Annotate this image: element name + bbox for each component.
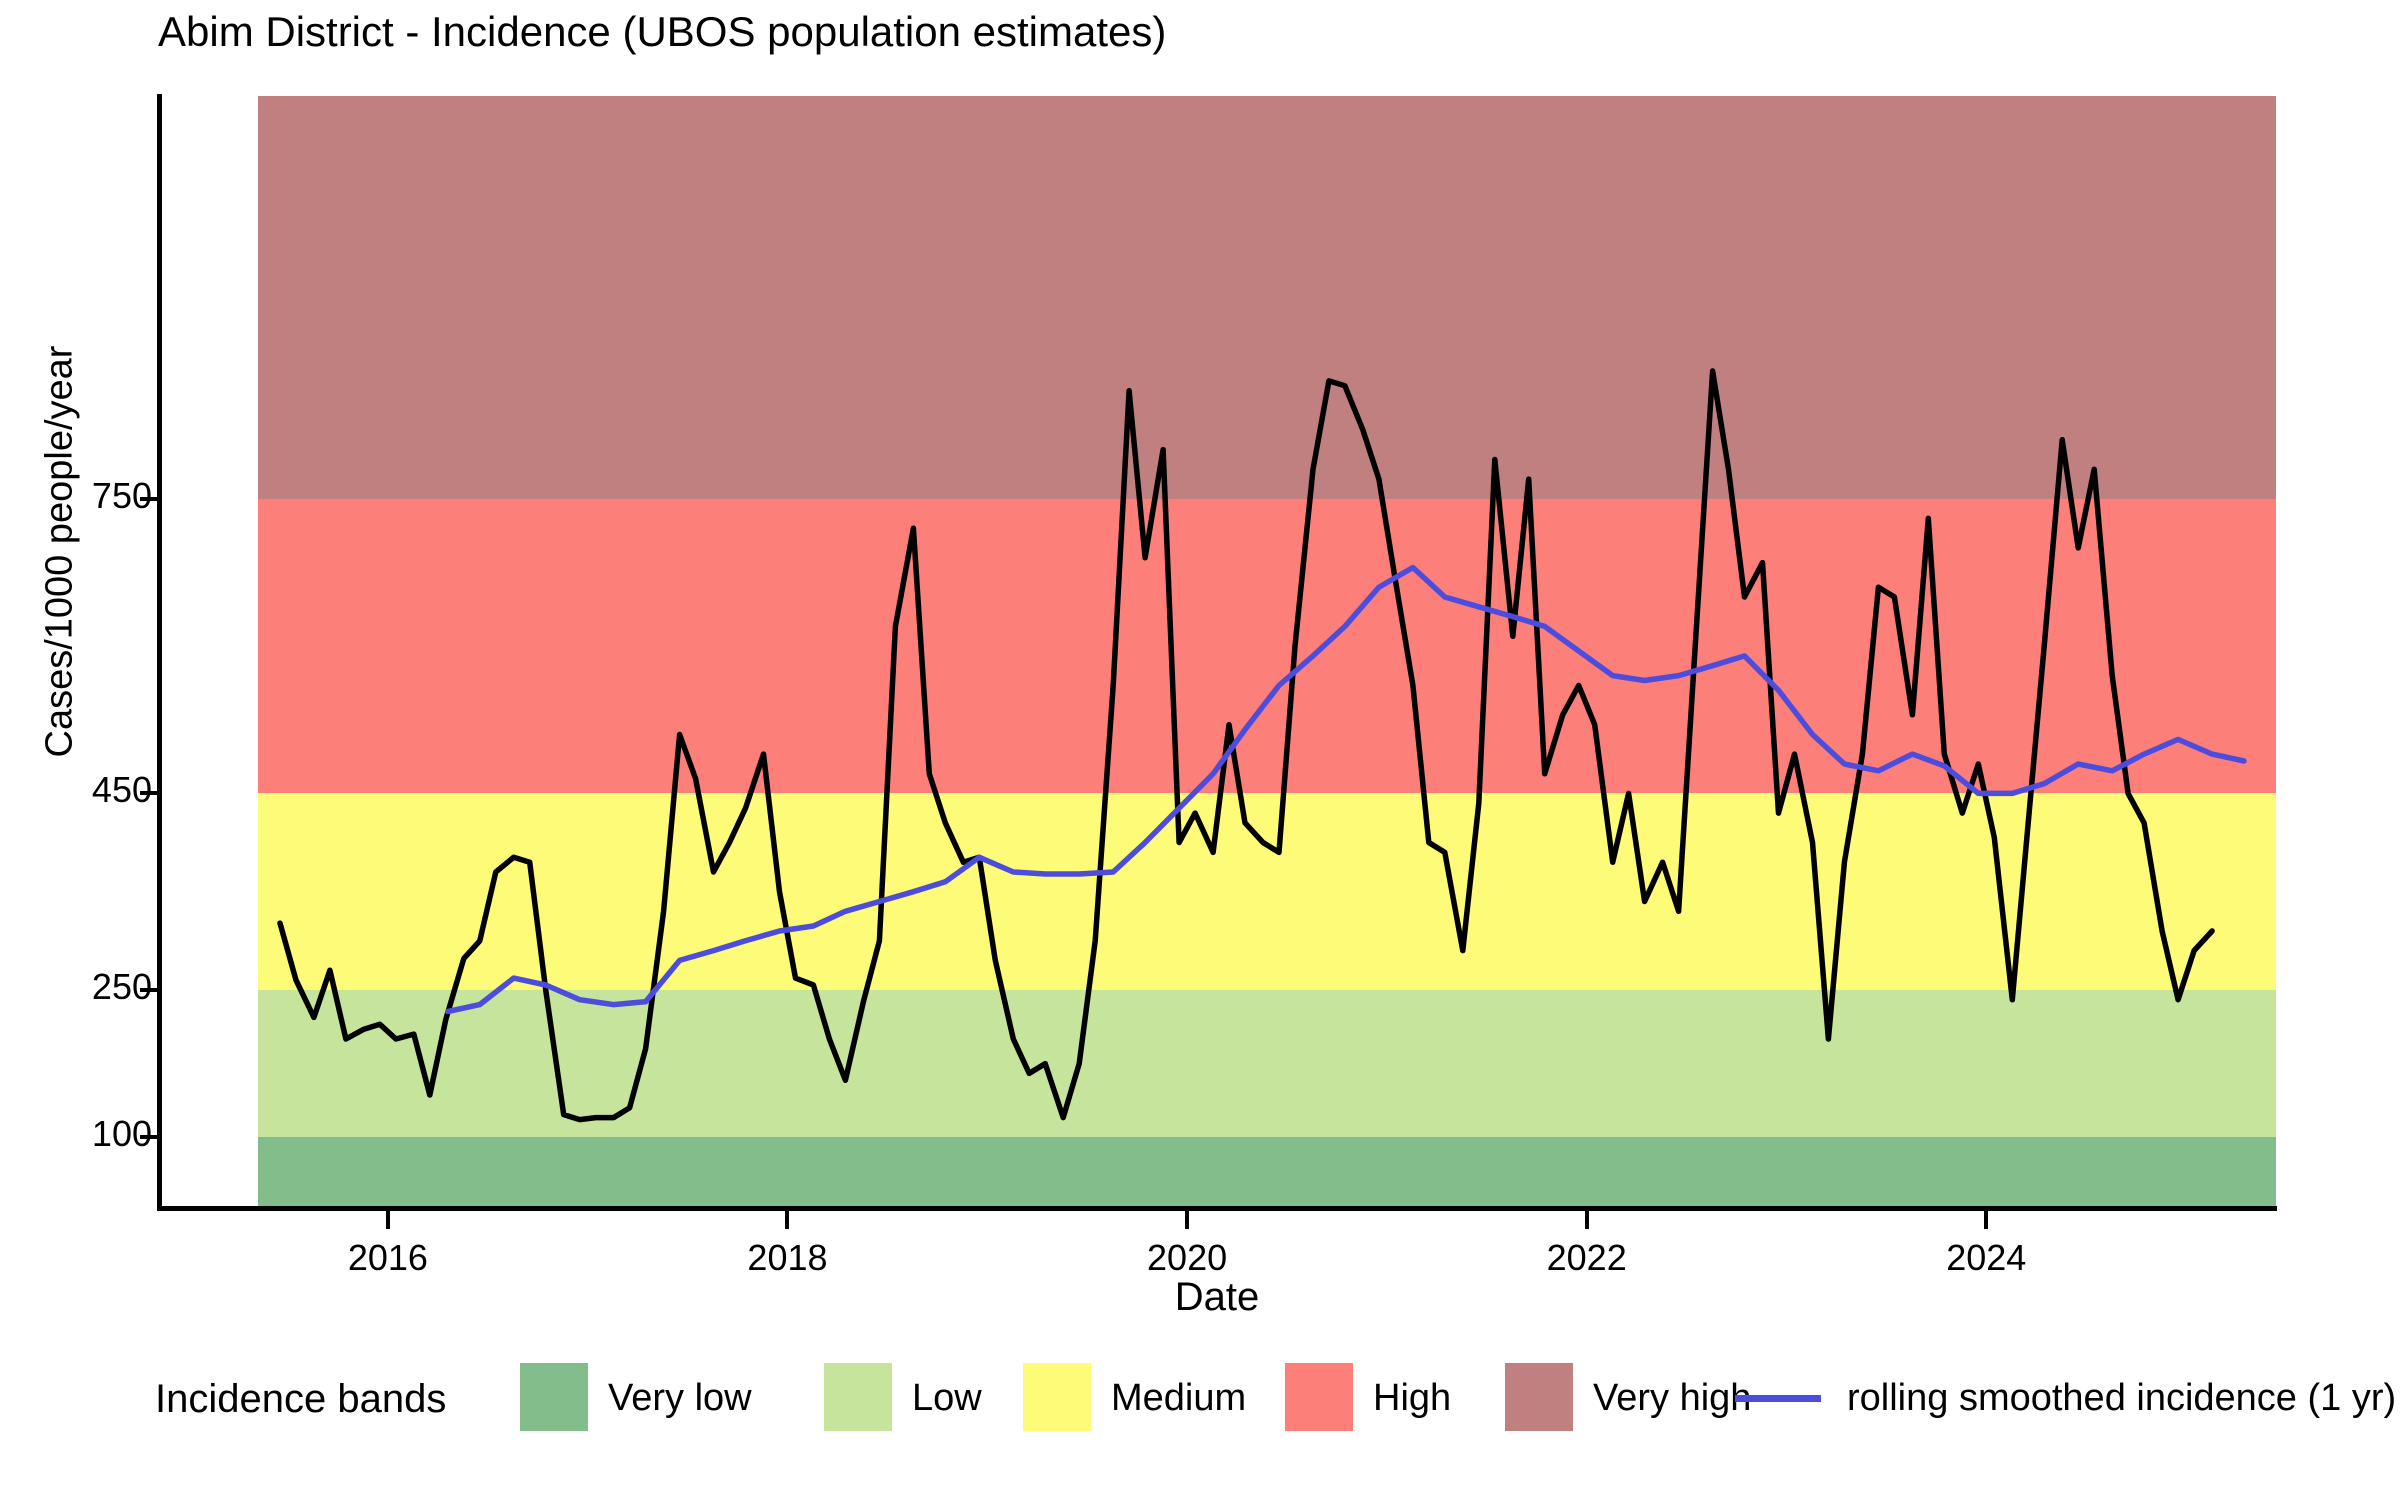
x-tick	[1984, 1211, 1988, 1229]
legend-swatch-very-low[interactable]	[520, 1363, 588, 1431]
x-tick	[1185, 1211, 1189, 1229]
legend-label-very-high: Very high	[1593, 1377, 1751, 1420]
x-tick-label: 2024	[1916, 1237, 2056, 1279]
chart-legend: Incidence bands Very lowLowMediumHighVer…	[0, 1355, 2400, 1465]
x-tick	[386, 1211, 390, 1229]
x-tick-label: 2020	[1117, 1237, 1257, 1279]
y-tick-label: 250	[92, 966, 152, 1008]
legend-label-very-low: Very low	[608, 1377, 752, 1420]
legend-swatch-high[interactable]	[1285, 1363, 1353, 1431]
legend-title: Incidence bands	[155, 1377, 446, 1422]
x-tick-label: 2018	[717, 1237, 857, 1279]
legend-label-medium: Medium	[1111, 1377, 1246, 1420]
legend-label-low: Low	[912, 1377, 982, 1420]
series-layer	[258, 96, 2276, 1206]
y-axis-label: Cases/1000 people/year	[39, 202, 82, 902]
y-tick-label: 100	[92, 1113, 152, 1155]
x-tick-label: 2016	[318, 1237, 458, 1279]
legend-line-swatch[interactable]	[1735, 1395, 1821, 1402]
page-title: Abim District - Incidence (UBOS populati…	[158, 8, 1166, 56]
legend-swatch-medium[interactable]	[1023, 1363, 1091, 1431]
plot-panel	[258, 96, 2276, 1206]
x-axis-line	[157, 1206, 2277, 1211]
x-tick	[785, 1211, 789, 1229]
legend-swatch-very-high[interactable]	[1505, 1363, 1573, 1431]
x-axis-label: Date	[158, 1275, 2276, 1320]
x-tick	[1585, 1211, 1589, 1229]
legend-label-high: High	[1373, 1377, 1451, 1420]
legend-swatch-low[interactable]	[824, 1363, 892, 1431]
y-axis-line	[157, 94, 162, 1210]
legend-label-rolling-smoothed-incidence: rolling smoothed incidence (1 yr)	[1847, 1377, 2396, 1420]
y-tick-label: 450	[92, 769, 152, 811]
x-tick-label: 2022	[1517, 1237, 1657, 1279]
series-line-rolling-smoothed-incidence-yr-	[448, 568, 2244, 1012]
series-line-monthly-incidence	[280, 371, 2212, 1120]
chart-root: Abim District - Incidence (UBOS populati…	[0, 0, 2400, 1500]
y-tick-label: 750	[92, 475, 152, 517]
